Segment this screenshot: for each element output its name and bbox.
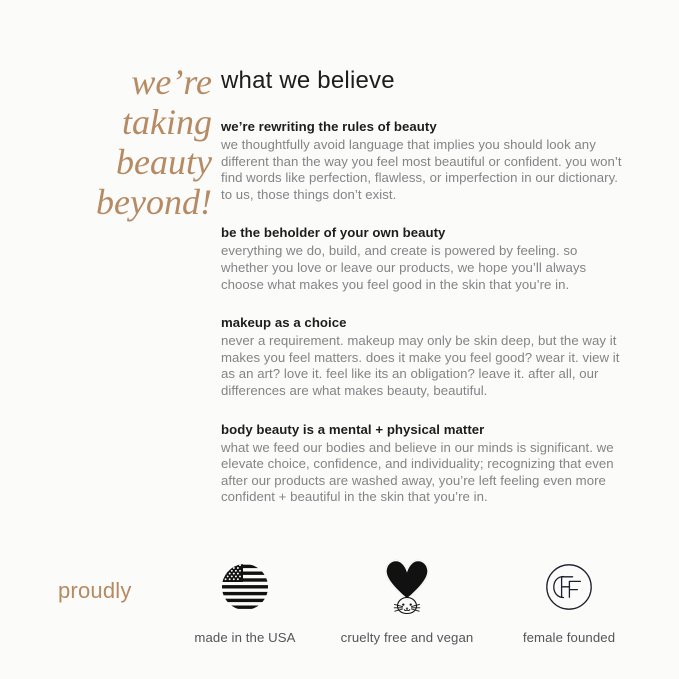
belief-item: be the beholder of your own beauty every… [221,224,625,293]
belief-body: we thoughtfully avoid language that impl… [221,137,625,203]
belief-body: what we feed our bodies and believe in o… [221,440,625,506]
belief-heading: be the beholder of your own beauty [221,224,625,241]
belief-body: everything we do, build, and create is p… [221,243,625,293]
female-founder-collective-icon [474,556,664,618]
belief-item: body beauty is a mental + physical matte… [221,421,625,506]
badge-female-founded: female founded [474,556,664,646]
proudly-badges-section: proudly [0,556,679,666]
belief-body: never a requirement. makeup may only be … [221,333,625,399]
belief-heading: we’re rewriting the rules of beauty [221,118,625,135]
belief-item: makeup as a choice never a requirement. … [221,314,625,399]
proudly-label: proudly [58,578,132,604]
page-title: what we believe [221,66,625,96]
badge-label: female founded [474,630,664,646]
believe-content-column: what we believe we’re rewriting the rule… [221,66,625,506]
belief-heading: makeup as a choice [221,314,625,331]
brand-values-page: we’re taking beauty beyond! what we beli… [0,0,679,679]
belief-item: we’re rewriting the rules of beauty we t… [221,118,625,203]
brand-headline: we’re taking beauty beyond! [40,62,212,222]
belief-heading: body beauty is a mental + physical matte… [221,421,625,438]
